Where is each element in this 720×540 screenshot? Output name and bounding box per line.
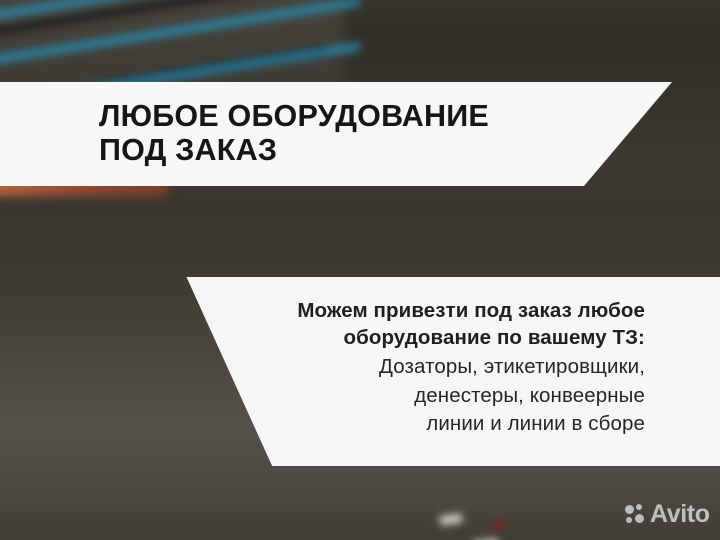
- page-title: ЛЮБОЕ ОБОРУДОВАНИЕ ПОД ЗАКАЗ: [99, 99, 659, 167]
- body-light-line-2: денестеры, конвеерные: [175, 382, 645, 411]
- avito-watermark: Avito: [625, 502, 710, 527]
- body-copy: Можем привезти под заказ любое оборудова…: [175, 297, 645, 439]
- listing-image: ЛЮБОЕ ОБОРУДОВАНИЕ ПОД ЗАКАЗ Можем приве…: [0, 0, 720, 540]
- headline-line-2: ПОД ЗАКАЗ: [99, 133, 659, 167]
- body-strong-line-1: Можем привезти под заказ любое: [175, 297, 645, 324]
- headline-line-1: ЛЮБОЕ ОБОРУДОВАНИЕ: [99, 99, 659, 133]
- body-light-line-1: Дозаторы, этикетировщики,: [175, 353, 645, 382]
- body-strong-line-2: оборудование по вашему ТЗ:: [175, 324, 645, 351]
- body-light-line-3: линии и линии в сборе: [175, 410, 645, 439]
- avito-wordmark: Avito: [650, 502, 710, 527]
- avito-dots-icon: [625, 504, 646, 525]
